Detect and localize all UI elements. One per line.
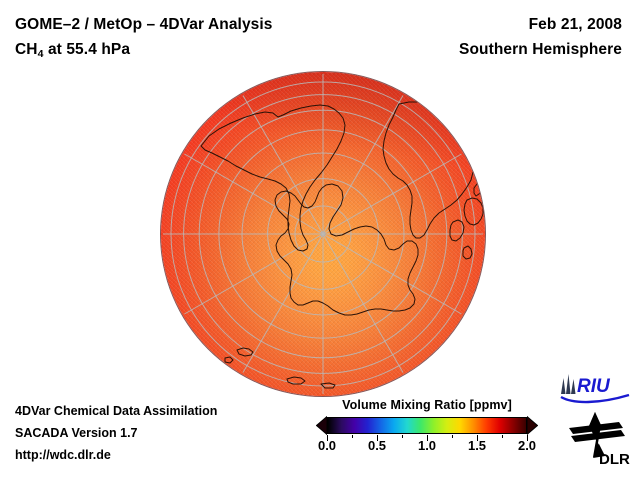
- credit-line-version: SACADA Version 1.7: [15, 422, 217, 444]
- region-label: Southern Hemisphere: [459, 37, 622, 62]
- globe-map: [161, 72, 485, 396]
- colorbar-tick-label: 1.5: [468, 438, 486, 453]
- colorbar: Volume Mixing Ratio [ppmv] 0.00.51.01.52…: [316, 398, 538, 456]
- colorbar-title: Volume Mixing Ratio [ppmv]: [316, 398, 538, 412]
- header-right: Feb 21, 2008 Southern Hemisphere: [459, 12, 622, 62]
- dlr-wordmark: DLR: [599, 451, 630, 468]
- date-label: Feb 21, 2008: [459, 12, 622, 37]
- colorbar-over-arrow-icon: [527, 416, 538, 435]
- colorbar-gradient: [328, 418, 526, 433]
- riu-logo: RIU: [559, 372, 631, 406]
- coastline-australia: [464, 182, 483, 225]
- colorbar-tick-label: 1.0: [418, 438, 436, 453]
- pressure-level: at 55.4 hPa: [44, 41, 131, 58]
- header-left: GOME–2 / MetOp – 4DVar Analysis CH4 at 5…: [15, 12, 273, 64]
- riu-wordmark: RIU: [577, 376, 611, 397]
- colorbar-tick-labels: 0.00.51.01.52.0: [316, 438, 538, 456]
- globe-disc: [161, 72, 485, 396]
- colorbar-row: [316, 416, 538, 435]
- coastline-new-zealand: [463, 246, 472, 259]
- species-level-label: CH4 at 55.4 hPa: [15, 37, 273, 64]
- figure-canvas: GOME–2 / MetOp – 4DVar Analysis CH4 at 5…: [0, 0, 640, 480]
- credit-line-url[interactable]: http://wdc.dlr.de: [15, 444, 217, 466]
- dlr-logo: DLR: [565, 410, 635, 468]
- colorbar-tick-label: 2.0: [518, 438, 536, 453]
- graticule-meridians: [163, 74, 483, 394]
- colorbar-gradient-box: [327, 417, 527, 434]
- globe-overlay: [161, 72, 485, 396]
- credit-line-assimilation: 4DVar Chemical Data Assimilation: [15, 400, 217, 422]
- riu-tower-icon: [561, 374, 576, 394]
- colorbar-tick-label: 0.0: [318, 438, 336, 453]
- species-name: CH: [15, 41, 38, 58]
- analysis-title: GOME–2 / MetOp – 4DVar Analysis: [15, 12, 273, 37]
- coastline-southern-islands: [225, 348, 335, 388]
- colorbar-tick-label: 0.5: [368, 438, 386, 453]
- species-subscript: 4: [38, 48, 44, 60]
- colorbar-under-arrow-icon: [316, 416, 327, 435]
- footer-credits: 4DVar Chemical Data Assimilation SACADA …: [15, 400, 217, 466]
